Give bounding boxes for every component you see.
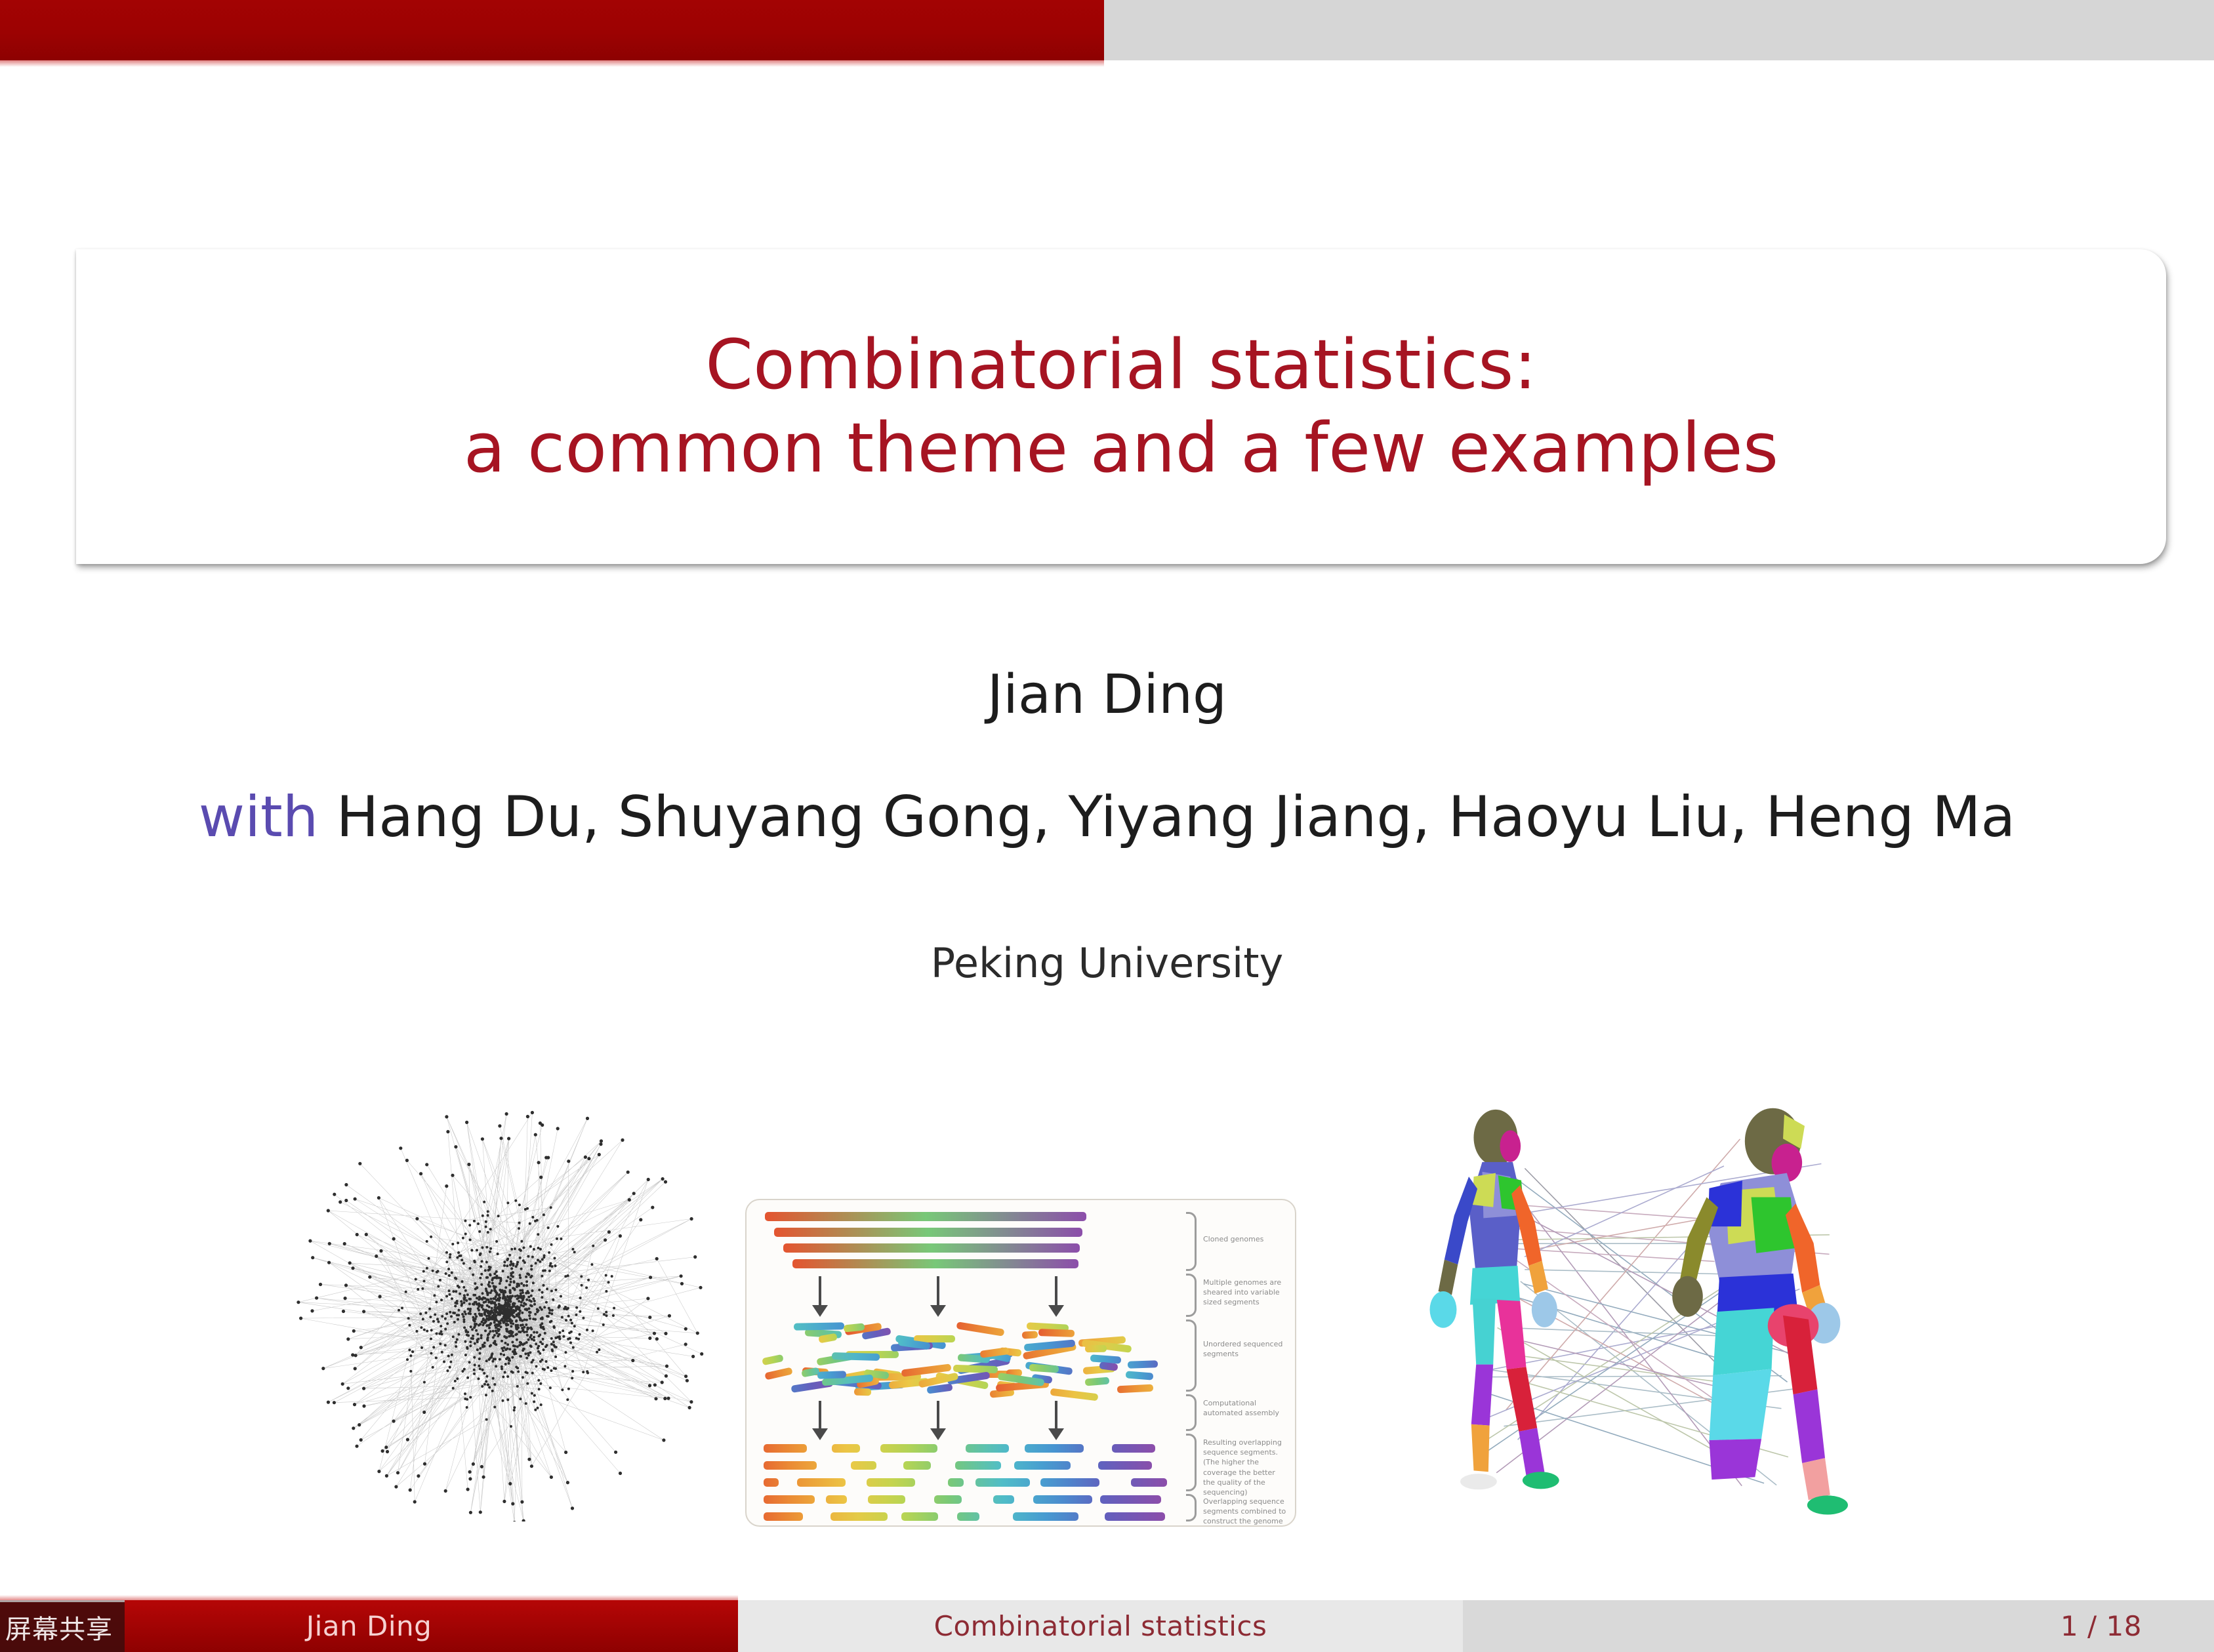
genome-segment bbox=[1085, 1345, 1107, 1353]
genome-segment bbox=[1050, 1388, 1099, 1401]
genome-segment bbox=[901, 1512, 938, 1521]
genome-segment bbox=[762, 1354, 784, 1365]
genome-segment bbox=[1085, 1377, 1110, 1386]
correspondence-line bbox=[1489, 1247, 1715, 1262]
genome-segment bbox=[765, 1212, 1086, 1221]
genome-segment bbox=[966, 1444, 1009, 1453]
genome-segment bbox=[867, 1478, 915, 1487]
genome-segment bbox=[830, 1512, 888, 1521]
genome-segment bbox=[975, 1478, 1030, 1487]
genome-segment bbox=[948, 1478, 964, 1487]
screen-share-label: 屏幕共享 bbox=[5, 1608, 113, 1646]
genome-segment bbox=[797, 1478, 846, 1487]
genome-brace-5 bbox=[1186, 1434, 1197, 1491]
footer-page-number: 1 / 18 bbox=[1463, 1600, 2214, 1652]
genome-segment bbox=[993, 1495, 1014, 1504]
genome-segment bbox=[1014, 1461, 1071, 1470]
genome-step-label-1: Cloned genomes bbox=[1203, 1234, 1287, 1244]
genome-step-label-4: Computational automated assembly bbox=[1203, 1398, 1287, 1418]
genome-segment bbox=[851, 1461, 876, 1470]
genome-segment bbox=[854, 1388, 872, 1396]
slide-footer: Jian Ding Combinatorial statistics 1 / 1… bbox=[0, 1600, 2214, 1652]
genome-brace-1 bbox=[1186, 1212, 1197, 1271]
genome-segment bbox=[1022, 1331, 1038, 1339]
genome-brace-2 bbox=[1186, 1274, 1197, 1317]
random-graph-svg bbox=[289, 1102, 722, 1521]
genome-segment bbox=[1117, 1384, 1153, 1393]
genome-segment bbox=[956, 1321, 1005, 1336]
genome-brace-6 bbox=[1186, 1494, 1197, 1521]
genome-segment bbox=[957, 1512, 979, 1521]
coauthor-names: Hang Du, Shuyang Gong, Yiyang Jiang, Hao… bbox=[337, 784, 2016, 850]
genome-diagram-card: Cloned genomes Multiple genomes are shea… bbox=[745, 1199, 1296, 1527]
genome-segment bbox=[903, 1461, 931, 1470]
coauthor-with-label: with bbox=[199, 784, 318, 850]
genome-segment bbox=[774, 1228, 1082, 1237]
genome-flow-arrow bbox=[937, 1276, 939, 1306]
genome-step-label-2: Multiple genomes are sheared into variab… bbox=[1203, 1278, 1287, 1308]
genome-segment bbox=[817, 1371, 846, 1379]
title-block: Combinatorial statistics: a common theme… bbox=[76, 249, 2166, 564]
genome-segment bbox=[1112, 1444, 1155, 1453]
page-title-line-1: Combinatorial statistics: bbox=[705, 323, 1536, 407]
genome-segment bbox=[955, 1461, 1001, 1470]
genome-flow-arrow bbox=[819, 1276, 821, 1306]
mesh-correspondence-svg bbox=[1371, 1089, 1896, 1535]
genome-step-label-5: Resulting overlapping sequence segments.… bbox=[1203, 1438, 1287, 1497]
genome-segment bbox=[1131, 1478, 1167, 1487]
coauthor-line: with Hang Du, Shuyang Gong, Yiyang Jiang… bbox=[0, 784, 2214, 850]
genome-segment bbox=[1033, 1495, 1093, 1504]
genome-segment bbox=[764, 1444, 807, 1453]
genome-segment bbox=[1098, 1461, 1151, 1470]
figure-row: Cloned genomes Multiple genomes are shea… bbox=[0, 1089, 2214, 1535]
page-title-line-2: a common theme and a few examples bbox=[464, 407, 1779, 490]
genome-segment bbox=[953, 1364, 998, 1373]
genome-segment bbox=[1029, 1364, 1059, 1373]
genome-segment bbox=[1100, 1495, 1161, 1504]
genome-segment bbox=[1025, 1444, 1084, 1453]
genome-brace-4 bbox=[1186, 1394, 1197, 1431]
genome-segment bbox=[1105, 1512, 1165, 1521]
genome-flow-arrow bbox=[1055, 1276, 1057, 1306]
mesh-body-right bbox=[1672, 1108, 1848, 1515]
genome-step-label-6: Overlapping sequence segments combined t… bbox=[1203, 1497, 1287, 1527]
footer-glow bbox=[0, 1595, 738, 1600]
figure-random-graph bbox=[289, 1102, 722, 1521]
figure-genome-assembly: Cloned genomes Multiple genomes are shea… bbox=[745, 1199, 1296, 1527]
genome-segment bbox=[792, 1259, 1078, 1268]
genome-segment bbox=[868, 1495, 905, 1504]
genome-segment bbox=[764, 1512, 803, 1521]
genome-segment bbox=[1040, 1478, 1099, 1487]
genome-segment bbox=[764, 1461, 817, 1470]
genome-segment bbox=[934, 1495, 962, 1504]
genome-segment bbox=[794, 1323, 844, 1331]
footer-short-title: Combinatorial statistics bbox=[738, 1600, 1463, 1652]
author-name: Jian Ding bbox=[0, 664, 2214, 726]
genome-flow-arrow bbox=[937, 1401, 939, 1430]
figure-shape-correspondence bbox=[1371, 1089, 1896, 1535]
genome-step-label-3: Unordered sequenced segments bbox=[1203, 1339, 1287, 1359]
genome-segment bbox=[832, 1444, 860, 1453]
genome-brace-3 bbox=[1186, 1320, 1197, 1392]
slide-header-glow bbox=[0, 60, 1104, 67]
genome-flow-arrow bbox=[1055, 1401, 1057, 1430]
mesh-body-left bbox=[1430, 1110, 1559, 1489]
genome-segment bbox=[880, 1444, 937, 1453]
genome-segment bbox=[764, 1495, 815, 1504]
slide-header-bar bbox=[0, 0, 2214, 60]
screen-share-badge[interactable]: 屏幕共享 bbox=[0, 1600, 125, 1652]
genome-segment bbox=[826, 1495, 847, 1504]
presentation-slide: Combinatorial statistics: a common theme… bbox=[0, 0, 2214, 1652]
genome-segment bbox=[1126, 1371, 1154, 1380]
slide-header-accent-block bbox=[0, 0, 1104, 60]
genome-segment bbox=[764, 1367, 792, 1380]
genome-flow-arrow bbox=[819, 1401, 821, 1430]
genome-segment bbox=[1038, 1329, 1075, 1337]
genome-segment bbox=[1127, 1361, 1157, 1369]
institute-name: Peking University bbox=[0, 939, 2214, 987]
genome-segment bbox=[783, 1243, 1080, 1253]
genome-segment bbox=[1013, 1512, 1078, 1521]
genome-segment bbox=[764, 1478, 779, 1487]
